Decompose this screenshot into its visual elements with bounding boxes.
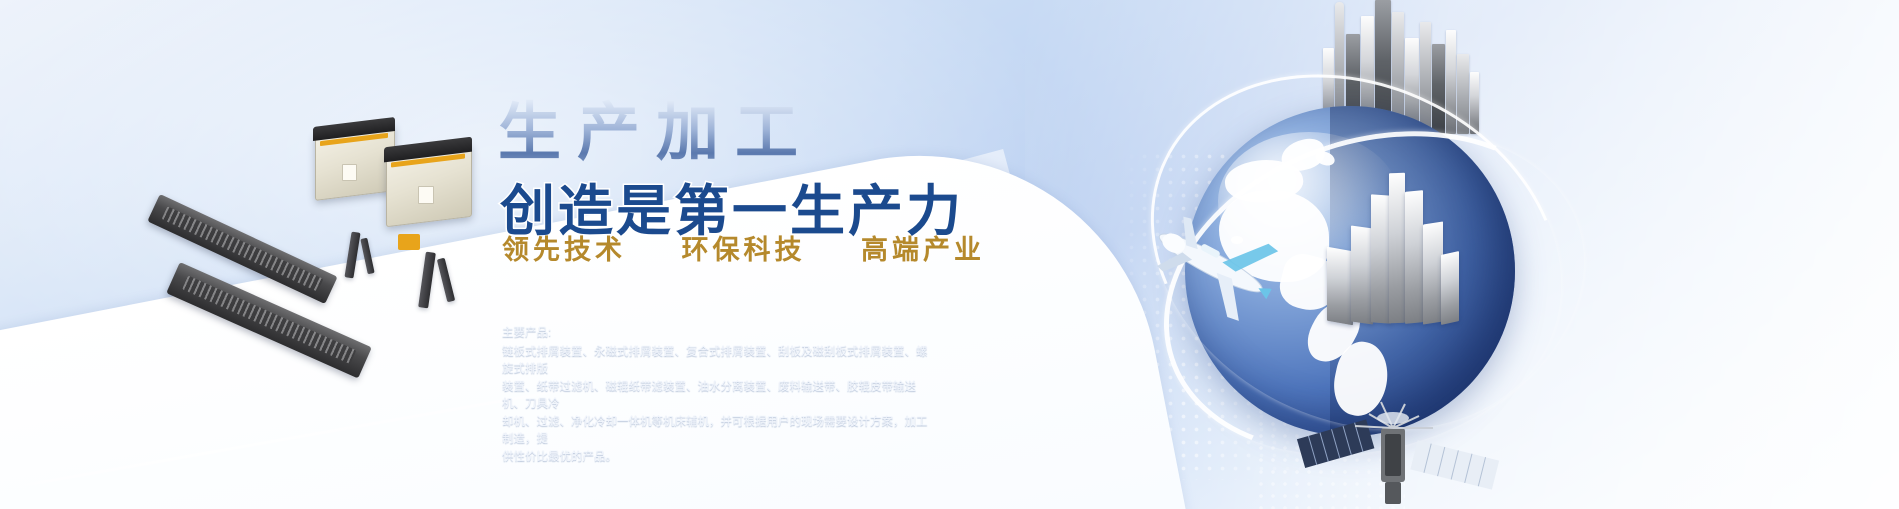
promo-banner: 生产加工 创造是第一生产力 领先技术 环保科技 高端产业 主要产品: 链板式排屑…	[0, 0, 1899, 509]
conveyor-label	[418, 186, 434, 204]
conveyor-leg	[344, 232, 360, 279]
product-description-block: 主要产品: 链板式排屑装置、永磁式排屑装置、复合式排屑装置、刮板及磁刮板式排屑装…	[502, 325, 932, 466]
tagline-item-3: 高端产业	[861, 235, 985, 265]
conveyor-leg	[437, 258, 455, 303]
satellite-graphic	[1285, 388, 1505, 508]
banner-tagline-row: 领先技术 环保科技 高端产业	[502, 228, 985, 267]
banner-headline: 生产加工	[498, 82, 814, 173]
conveyor-roller-guard	[398, 234, 420, 250]
globe-composition	[1155, 0, 1899, 509]
conveyor-belt	[166, 262, 372, 378]
airplane-graphic	[1125, 196, 1285, 326]
product-list-line: 却机、过滤、净化冷却一体机等机床辅机，并可根据用户的现场需要设计方案，加工制造，…	[502, 414, 932, 449]
tagline-item-2: 环保科技	[682, 235, 806, 265]
product-list-title: 主要产品:	[502, 325, 932, 343]
tagline-item-1: 领先技术	[502, 235, 626, 265]
conveyor-leg	[360, 238, 374, 275]
product-list-line: 供性价比最优的产品。	[502, 449, 932, 467]
conveyor-leg	[418, 252, 436, 309]
conveyor-machinery-graphic	[150, 120, 510, 370]
conveyor-label	[342, 164, 357, 181]
product-list-line: 链板式排屑装置、永磁式排屑装置、复合式排屑装置、刮板及磁刮板式排屑装置、螺旋式排…	[502, 344, 932, 379]
product-list-line: 装置、纸带过滤机、磁辊纸带滤装置、油水分离装置、废料输送带、胶辊皮带输送机、刀具…	[502, 379, 932, 414]
